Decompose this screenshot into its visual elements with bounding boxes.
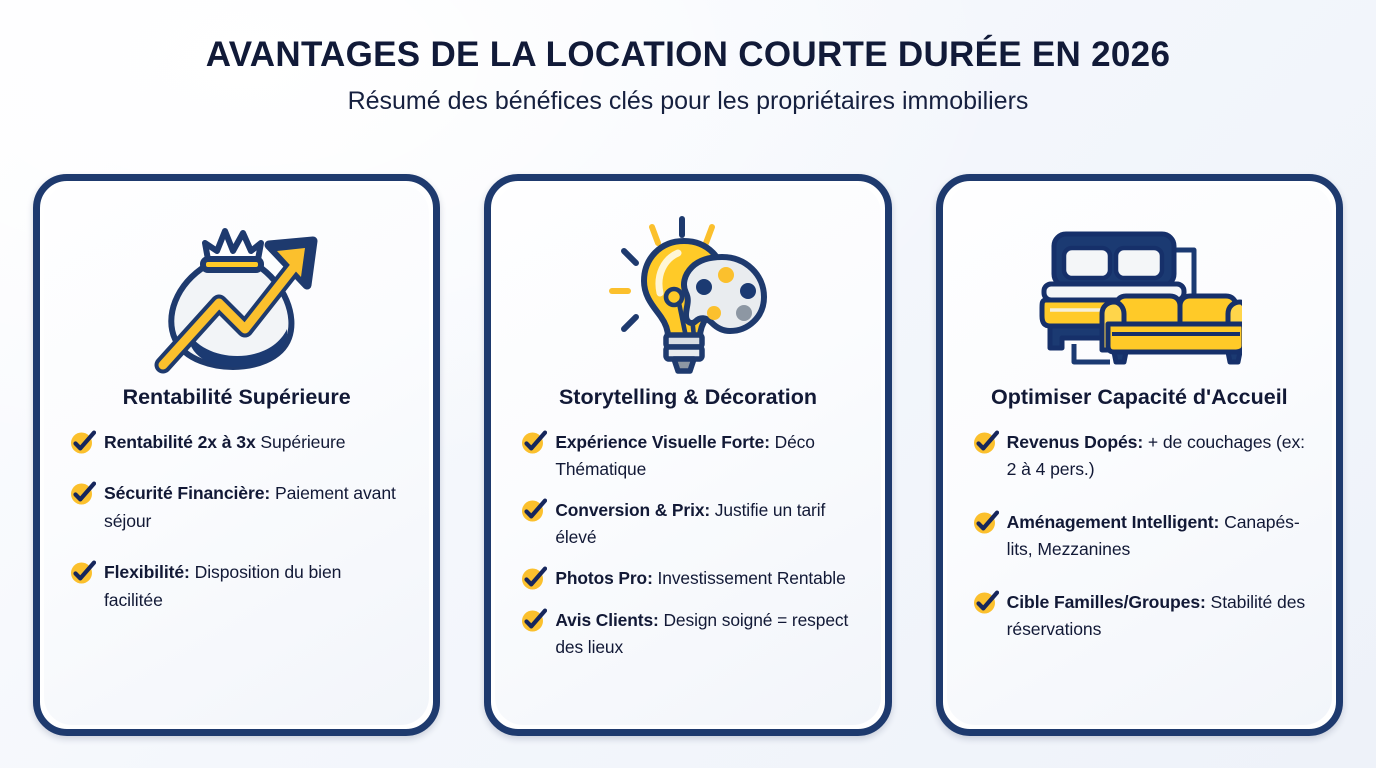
bullet-text: Conversion & Prix: Justifie un tarif éle… [555,497,854,551]
check-circle-icon [973,510,999,534]
bullet-detail: Supérieure [256,432,346,452]
page-subtitle: Résumé des bénéfices clés pour les propr… [0,87,1376,116]
money-bag-growth-arrow-icon [66,211,407,383]
list-item: Rentabilité 2x à 3x Supérieure [70,429,403,456]
bullet-text: Avis Clients: Design soigné = respect de… [555,607,854,661]
bullet-detail: Investissement Rentable [653,568,846,588]
list-item: Conversion & Prix: Justifie un tarif éle… [521,497,854,551]
lightbulb-palette-icon [517,211,858,383]
bullet-list: Rentabilité 2x à 3x Supérieure Sécurité … [66,415,407,711]
check-circle-icon [973,430,999,454]
bullet-label: Photos Pro: [555,568,652,588]
card-title: Storytelling & Décoration [559,385,817,411]
header: AVANTAGES DE LA LOCATION COURTE DURÉE EN… [0,0,1376,115]
check-circle-icon [521,430,547,454]
list-item: Photos Pro: Investissement Rentable [521,565,854,592]
bullet-text: Aménagement Intelligent: Canapés-lits, M… [1007,509,1306,564]
bullet-label: Cible Familles/Groupes: [1007,592,1206,612]
bed-sofa-capacity-icon [969,211,1310,383]
bullet-label: Conversion & Prix: [555,500,710,520]
list-item: Revenus Dopés: + de couchages (ex: 2 à 4… [973,429,1306,484]
list-item: Flexibilité: Disposition du bien facilit… [70,559,403,614]
card-capacite: Optimiser Capacité d'Accueil Revenus Dop… [936,174,1343,736]
bullet-label: Flexibilité: [104,562,190,582]
check-circle-icon [70,560,96,584]
bullet-label: Aménagement Intelligent: [1007,512,1220,532]
bullet-text: Flexibilité: Disposition du bien facilit… [104,559,403,614]
bullet-text: Sécurité Financière: Paiement avant séjo… [104,480,403,535]
bullet-text: Photos Pro: Investissement Rentable [555,565,845,592]
check-circle-icon [973,590,999,614]
bullet-list: Expérience Visuelle Forte: Déco Thématiq… [517,415,858,711]
list-item: Aménagement Intelligent: Canapés-lits, M… [973,509,1306,564]
bullet-label: Expérience Visuelle Forte: [555,432,770,452]
check-circle-icon [521,608,547,632]
bullet-text: Revenus Dopés: + de couchages (ex: 2 à 4… [1007,429,1306,484]
bullet-list: Revenus Dopés: + de couchages (ex: 2 à 4… [969,415,1310,711]
card-title: Optimiser Capacité d'Accueil [991,385,1288,411]
bullet-text: Cible Familles/Groupes: Stabilité des ré… [1007,589,1306,644]
infographic-page: AVANTAGES DE LA LOCATION COURTE DURÉE EN… [0,0,1376,768]
list-item: Expérience Visuelle Forte: Déco Thématiq… [521,429,854,483]
bullet-text: Expérience Visuelle Forte: Déco Thématiq… [555,429,854,483]
list-item: Cible Familles/Groupes: Stabilité des ré… [973,589,1306,644]
page-title: AVANTAGES DE LA LOCATION COURTE DURÉE EN… [0,36,1376,75]
bullet-label: Sécurité Financière: [104,483,270,503]
card-title: Rentabilité Supérieure [123,385,351,411]
bullet-label: Avis Clients: [555,610,658,630]
check-circle-icon [521,566,547,590]
bullet-text: Rentabilité 2x à 3x Supérieure [104,429,345,456]
card-rentabilite: Rentabilité Supérieure Rentabilité 2x à … [33,174,440,736]
check-circle-icon [70,430,96,454]
list-item: Sécurité Financière: Paiement avant séjo… [70,480,403,535]
bullet-label: Rentabilité 2x à 3x [104,432,256,452]
check-circle-icon [70,481,96,505]
check-circle-icon [521,498,547,522]
bullet-label: Revenus Dopés: [1007,432,1143,452]
list-item: Avis Clients: Design soigné = respect de… [521,607,854,661]
card-storytelling: Storytelling & Décoration Expérience Vis… [484,174,891,736]
cards-row: Rentabilité Supérieure Rentabilité 2x à … [33,174,1343,736]
